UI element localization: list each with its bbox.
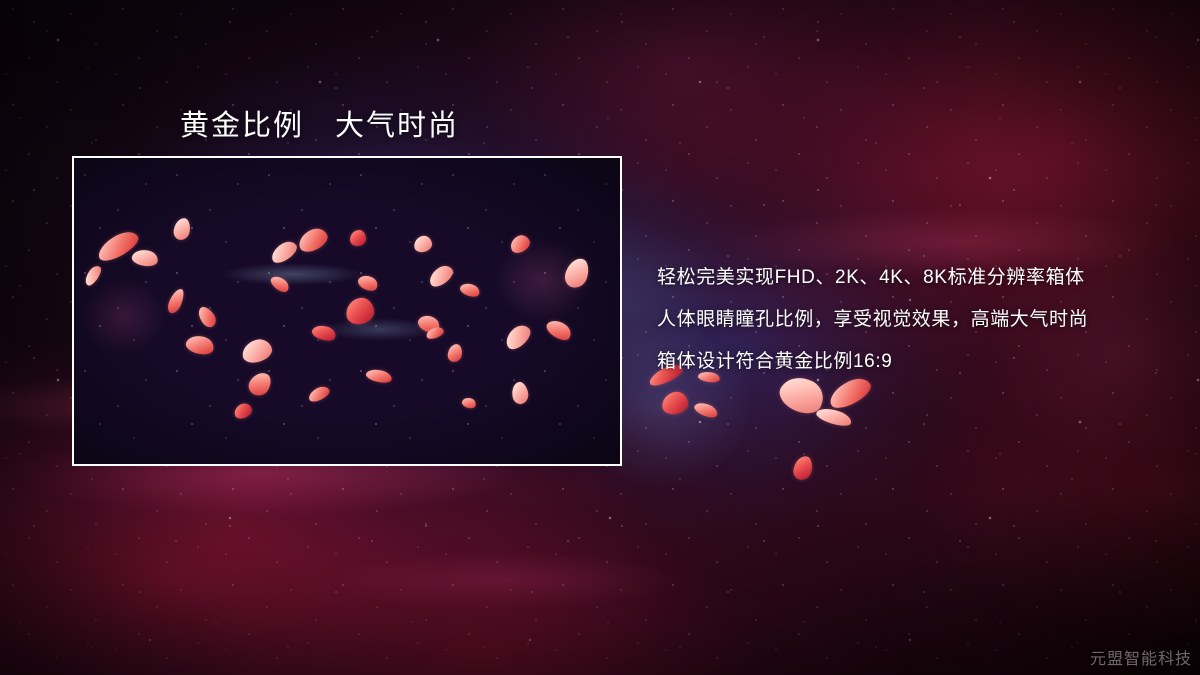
body-text-line: 箱体设计符合黄金比例16:9 — [657, 341, 1177, 383]
galaxy-photo-frame — [72, 156, 622, 466]
flower-petal-icon — [792, 454, 815, 481]
flower-petal-icon — [693, 400, 720, 421]
flower-petal-icon — [815, 405, 854, 429]
company-watermark: 元盟智能科技 — [1090, 645, 1192, 669]
body-text-line: 轻松完美实现FHD、2K、4K、8K标准分辨率箱体 — [657, 257, 1177, 299]
slide-title: 黄金比例 大气时尚 — [180, 102, 459, 144]
flower-petal-icon — [661, 390, 690, 415]
body-text-line: 人体眼睛瞳孔比例，享受视觉效果，高端大气时尚 — [657, 299, 1177, 341]
galaxy-photo — [74, 158, 620, 464]
presentation-slide: 黄金比例 大气时尚 轻松完美实现FHD、2K、4K、8K标准分辨率箱体人体眼睛瞳… — [0, 0, 1200, 675]
body-text-block: 轻松完美实现FHD、2K、4K、8K标准分辨率箱体人体眼睛瞳孔比例，享受视觉效果… — [657, 257, 1177, 383]
photo-vignette — [74, 158, 620, 464]
